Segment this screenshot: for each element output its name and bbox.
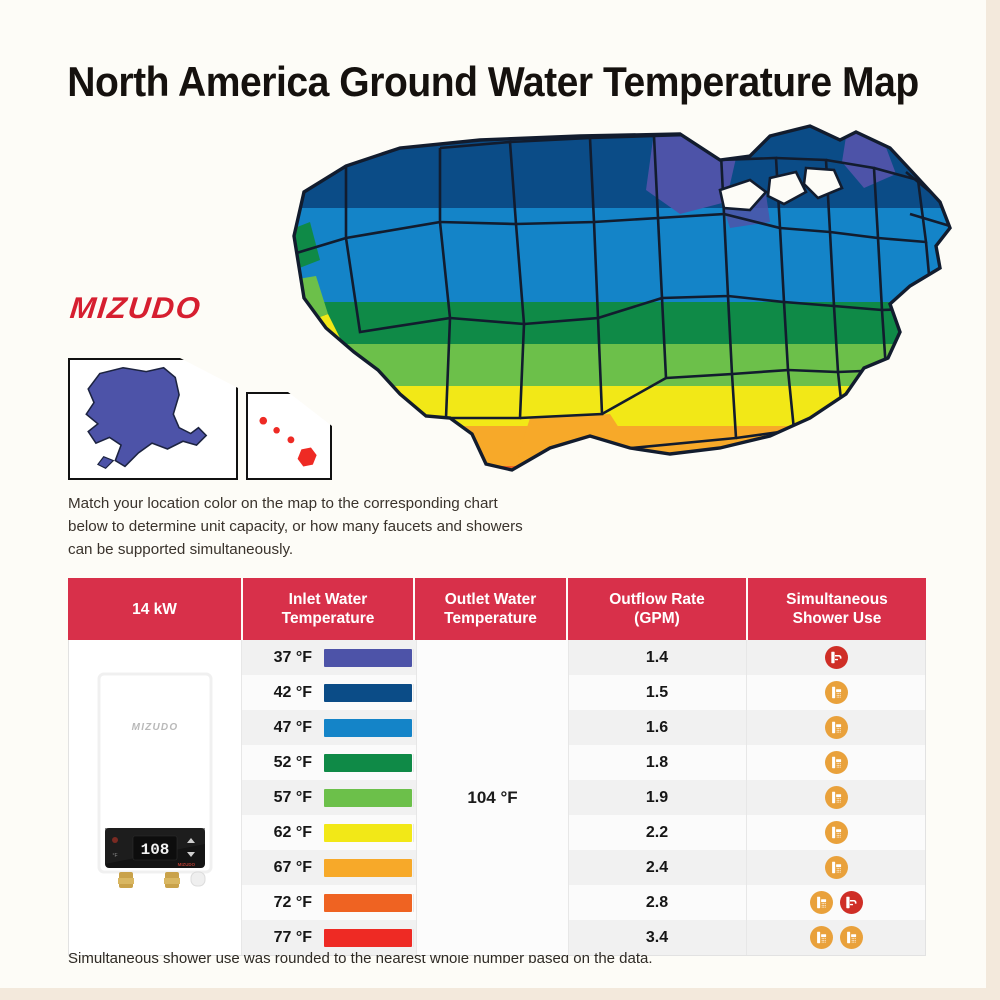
instruction-text: Match your location color on the map to … <box>68 492 538 561</box>
page-title: North America Ground Water Temperature M… <box>35 58 952 106</box>
header-shower-label: Simultaneous Shower Use <box>786 590 888 628</box>
outlet-temperature-cell: 104 °F <box>416 640 569 955</box>
shower-use-cell <box>747 920 925 955</box>
temperature-color-swatch <box>324 929 412 947</box>
outflow-rate-value: 1.8 <box>567 745 747 780</box>
temperature-color-swatch <box>324 894 412 912</box>
inlet-temperature-value: 72 °F <box>256 894 312 912</box>
temperature-color-swatch <box>324 824 412 842</box>
us-temperature-map <box>250 118 980 498</box>
outflow-rate-value: 1.6 <box>567 710 747 745</box>
shower-orange-icon <box>810 926 833 949</box>
outflow-rate-value: 1.4 <box>567 640 747 675</box>
header-outflow-label: Outflow Rate (GPM) <box>609 590 705 628</box>
shower-orange-icon <box>810 891 833 914</box>
table-row: 57 °F 1.9 <box>242 780 925 815</box>
header-shower: Simultaneous Shower Use <box>748 578 926 640</box>
table-rows: 37 °F 1.4 42 °F 1.5 47 ° <box>242 640 925 955</box>
faucet-red-icon <box>825 646 848 669</box>
shower-orange-icon <box>825 681 848 704</box>
outflow-rate-value: 2.4 <box>567 850 747 885</box>
alaska-inset <box>68 358 238 480</box>
inlet-cell: 47 °F <box>242 719 414 737</box>
mizudo-logo: MIZUDO <box>68 292 203 326</box>
shower-use-cell <box>747 780 925 815</box>
temperature-color-swatch <box>324 719 412 737</box>
shower-use-cell <box>747 745 925 780</box>
shower-use-cell <box>747 640 925 675</box>
shower-orange-icon <box>825 821 848 844</box>
shower-orange-icon <box>825 786 848 809</box>
inlet-cell: 62 °F <box>242 824 414 842</box>
water-heater-image: MIZUDO 108 °F MIZUDO <box>91 668 221 918</box>
heater-display-value: 108 <box>141 841 170 859</box>
heater-brand-text: MIZUDO <box>132 722 179 733</box>
infographic-page: North America Ground Water Temperature M… <box>0 0 1000 1000</box>
inlet-cell: 57 °F <box>242 789 414 807</box>
table-row: 47 °F 1.6 <box>242 710 925 745</box>
shower-use-cell <box>747 710 925 745</box>
inlet-cell: 67 °F <box>242 859 414 877</box>
outflow-rate-value: 2.8 <box>567 885 747 920</box>
outflow-rate-value: 1.5 <box>567 675 747 710</box>
inlet-temperature-value: 57 °F <box>256 789 312 807</box>
table-row: 52 °F 1.8 <box>242 745 925 780</box>
shower-orange-icon <box>825 856 848 879</box>
header-outflow: Outflow Rate (GPM) <box>568 578 748 640</box>
alaska-inset-corner <box>180 358 238 388</box>
temperature-color-swatch <box>324 789 412 807</box>
temperature-color-swatch <box>324 859 412 877</box>
inlet-cell: 42 °F <box>242 684 414 702</box>
inlet-temperature-value: 52 °F <box>256 754 312 772</box>
hawaii-inset <box>246 392 332 480</box>
table-row: 67 °F 2.4 <box>242 850 925 885</box>
temperature-color-swatch <box>324 754 412 772</box>
shower-use-cell <box>747 885 925 920</box>
header-outlet: Outlet Water Temperature <box>415 578 568 640</box>
table-row: 72 °F 2.8 <box>242 885 925 920</box>
shower-use-cell <box>747 850 925 885</box>
shower-orange-icon <box>840 926 863 949</box>
product-image-cell: MIZUDO 108 °F MIZUDO <box>69 640 242 955</box>
inlet-temperature-value: 42 °F <box>256 684 312 702</box>
inlet-cell: 77 °F <box>242 929 414 947</box>
inlet-temperature-value: 47 °F <box>256 719 312 737</box>
header-inlet-label: Inlet Water Temperature <box>282 590 375 628</box>
inlet-temperature-value: 67 °F <box>256 859 312 877</box>
shower-use-cell <box>747 815 925 850</box>
inlet-temperature-value: 77 °F <box>256 929 312 947</box>
inlet-temperature-value: 37 °F <box>256 649 312 667</box>
capacity-table: 14 kW Inlet Water Temperature Outlet Wat… <box>68 578 926 956</box>
header-inlet: Inlet Water Temperature <box>243 578 415 640</box>
header-outlet-label: Outlet Water Temperature <box>444 590 537 628</box>
shower-orange-icon <box>825 751 848 774</box>
table-row: 42 °F 1.5 <box>242 675 925 710</box>
hawaii-inset-corner <box>288 392 332 426</box>
temperature-color-swatch <box>324 684 412 702</box>
shower-use-cell <box>747 675 925 710</box>
outflow-rate-value: 1.9 <box>567 780 747 815</box>
inlet-cell: 37 °F <box>242 649 414 667</box>
inlet-temperature-value: 62 °F <box>256 824 312 842</box>
table-header-row: 14 kW Inlet Water Temperature Outlet Wat… <box>68 578 926 640</box>
inlet-cell: 72 °F <box>242 894 414 912</box>
faucet-red-icon <box>840 891 863 914</box>
table-row: 37 °F 1.4 <box>242 640 925 675</box>
outflow-rate-value: 2.2 <box>567 815 747 850</box>
svg-text:MIZUDO: MIZUDO <box>178 862 196 867</box>
inlet-cell: 52 °F <box>242 754 414 772</box>
temperature-color-swatch <box>324 649 412 667</box>
svg-text:°F: °F <box>112 853 117 859</box>
table-body: MIZUDO 108 °F MIZUDO <box>68 640 926 956</box>
table-row: 62 °F 2.2 <box>242 815 925 850</box>
header-power: 14 kW <box>68 578 243 640</box>
header-power-label: 14 kW <box>132 600 177 619</box>
outlet-temperature-value: 104 °F <box>467 788 517 808</box>
shower-orange-icon <box>825 716 848 739</box>
